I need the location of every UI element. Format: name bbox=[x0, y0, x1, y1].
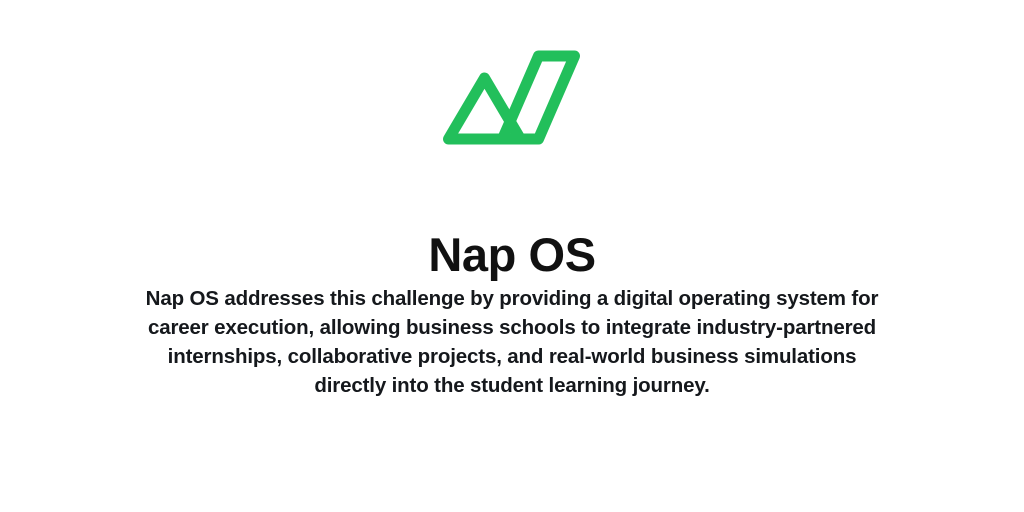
body-container: Nap OS addresses this challenge by provi… bbox=[142, 284, 882, 400]
body-paragraph: Nap OS addresses this challenge by provi… bbox=[142, 284, 882, 400]
logo-right-bar-shape bbox=[503, 56, 575, 139]
logo-container bbox=[0, 44, 1024, 164]
slide-canvas: Nap OS Nap OS addresses this challenge b… bbox=[0, 0, 1024, 512]
nap-os-monogram-icon bbox=[437, 44, 587, 156]
page-title: Nap OS bbox=[0, 227, 1024, 283]
